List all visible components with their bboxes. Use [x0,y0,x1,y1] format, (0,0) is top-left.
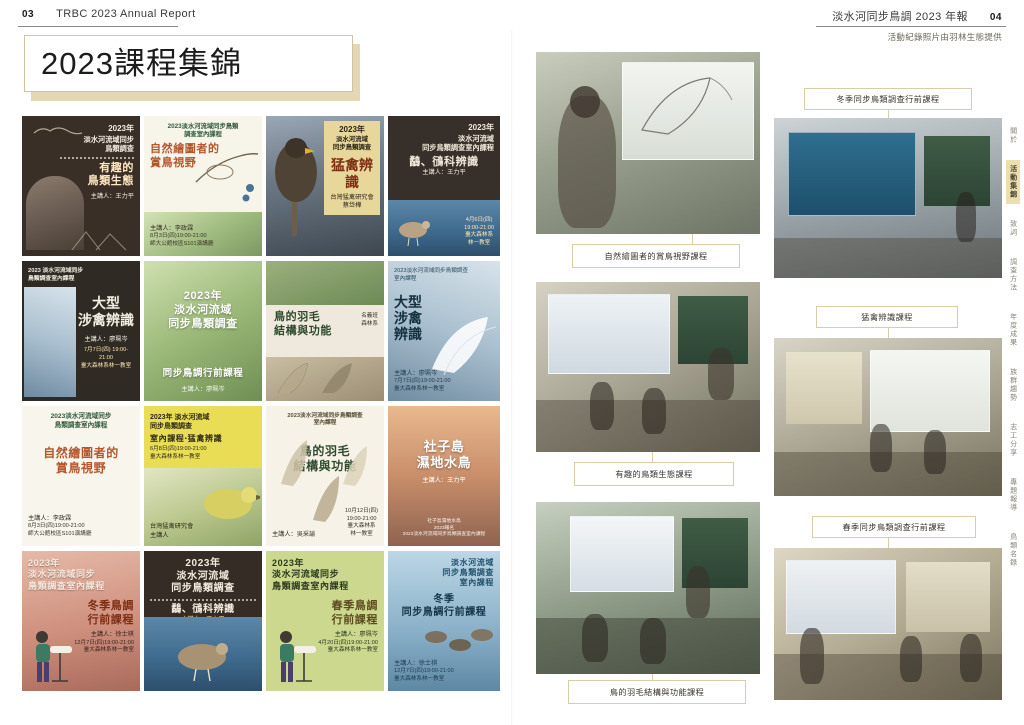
poster-year: 2023年 淡水河流域 [150,413,256,422]
poster-photo [266,261,384,305]
side-tab-activities[interactable]: 活動集錦 [1006,160,1019,204]
header-left-group: 03 TRBC 2023 Annual Report [22,8,196,20]
attendee-person [640,618,666,664]
poster-card[interactable]: 2023年 淡水河流域同步 鳥類調查室內課程 冬季鳥調 行前課程 主講人：徐士棋… [22,551,140,691]
yellow-bird-icon [194,476,260,532]
poster-meta: 7月7日(四) 19:00-21:00 臺大森林系林一教室 [77,347,135,370]
poster-speaker: 台灣猛禽研究會 主講人 [150,523,193,540]
poster-year: 2023年 [150,558,256,571]
poster-org: 2023淡水河流域同步鳥類 調查室內課程 [150,123,256,139]
attendee-person [582,614,608,662]
caption-illustration-lecture: 自然繪圖者的賞鳥視野課程 [572,244,740,268]
birdwatcher-icon [26,627,78,687]
poster-org: 淡水河流域 同步鳥類調查 [150,571,256,596]
poster-main-title: 鷸、鴴科辨識 [394,156,494,170]
poster-card[interactable]: 2023年 淡水河流域 同步鳥類調查 鷸、鴴科辨識 主講人：王力平 [144,551,262,691]
poster-org: 鳥類調查室內課程 [28,276,134,284]
header-rule-left [18,26,178,27]
side-tab-volunteers[interactable]: 志工分享 [1006,418,1019,462]
poster-org: 淡水河流域 同步鳥類調查室內課程 [394,134,494,153]
projection-screen [788,132,916,216]
caption-text: 有趣的鳥類生態課程 [615,468,692,480]
caption-spring-pretrip: 春季同步鳥類調查行前課程 [812,516,976,538]
poster-org: 淡水河流域 同步鳥類調查 [150,304,256,332]
poster-main-title: 冬季 同步鳥調行前課程 [394,594,494,619]
side-tab-species-list[interactable]: 鳥類名錄 [1006,528,1019,572]
poster-main-title: 自然繪圖者的 賞鳥視野 [28,446,134,476]
poster-meta: 12月7日(四)19:00-21:00 臺大森林系林一教室 [394,668,494,684]
attendee-person [924,430,946,474]
projection-screen [570,516,674,592]
speaker-head [570,86,600,118]
side-tab-features[interactable]: 專題報導 [1006,473,1019,517]
branch-nest-icon [194,142,260,204]
poster-main-title: 鳥的羽毛 結構與功能 [274,311,332,339]
poster-meta: 社子島濕地水鳥 2023報名 2023淡水河流域同步鳥類調查室內課程 [394,519,494,539]
photo-bird-ecology[interactable] [536,282,760,452]
title-card: 2023課程集錦 [24,35,353,92]
shorebird-icon [393,216,433,246]
poster-board [786,352,862,424]
poster-card[interactable]: 2023 淡水河流域同步 鳥類調查室內課程 大型 涉禽辨識 主講人：廖珮岑 7月… [22,261,140,401]
poster-year: 2023年 [150,290,256,304]
poster-org: 淡水河流域 同步鳥類調查 [327,136,377,153]
caption-leader [888,328,889,338]
projection-screen [548,294,670,374]
attendee-person [642,388,666,434]
poster-card[interactable]: 2023年 淡水河流域 同步鳥類調查 室內課程‧猛禽辨識 6月8日(四)19:0… [144,406,262,546]
whiteboard [906,562,990,632]
right-page: 自然繪圖者的賞鳥視野課程 冬季同步鳥類調查行前課程 猛禽辨識課程 有趣的鳥類生態… [512,30,1024,725]
poster-grid: 2023年 淡水河流域同步 鳥類調查 有趣的 鳥類生態 主講人：王力平 2023… [22,116,504,691]
page-title: 2023課程集錦 [25,48,242,79]
caption-text: 鳥的羽毛結構與功能課程 [610,686,704,698]
poster-main-title: 鷸、鴴科辨識 [150,604,256,617]
poster-card[interactable]: 2023年 淡水河流域同步 鳥類調查室內課程 春季鳥調 行前課程 主講人：廖珮岑… [266,551,384,691]
feather-icon [270,359,374,399]
side-tab-trends[interactable]: 族群趨勢 [1006,363,1019,407]
poster-photo [24,287,76,397]
poster-year: 2023年 [394,123,494,134]
poster-main-title: 社子島 濕地水鳥 [394,439,494,472]
poster-card[interactable]: 2023年 淡水河流域 同步鳥類調查室內課程 鷸、鴴科辨識 主講人：王力平 4月… [388,116,500,256]
side-tab-about[interactable]: 關於 [1006,122,1019,149]
side-tab-results[interactable]: 年度成果 [1006,308,1019,352]
poster-year: 2023 淡水河流域同步 [28,268,134,276]
whiteboard [924,136,990,206]
header-title-left: TRBC 2023 Annual Report [56,8,195,20]
poster-org: 淡水河流域同步 鳥類調查室內課程 [28,569,134,592]
poster-speaker: 台灣猛禽研究會 蔡岱樺 [327,194,377,211]
caption-text: 春季同步鳥類調查行前課程 [842,521,945,533]
folio-right: 04 [990,12,1002,23]
poster-main-title: 同步鳥調行前課程 [150,368,256,380]
poster-card[interactable]: 2023年 淡水河流域同步 鳥類調查 有趣的 鳥類生態 主講人：王力平 [22,116,140,256]
poster-speaker: 主講人：王力平 [394,477,494,485]
poster-main-title: 猛禽辨識 [327,157,377,191]
eagle-icon [268,132,326,252]
poster-main-title: 有趣的 鳥類生態 [60,162,134,190]
poster-year: 2023年 [28,558,134,569]
poster-speaker: 主講人：王力平 [394,169,494,177]
poster-card[interactable]: 2023淡水河流域同步鳥類調查 室內課程 鳥的羽毛 結構與功能 主講人：吳采諭 … [266,406,384,546]
poster-org: 淡水河流域同步 鳥類調查室內課程 [272,569,378,592]
poster-speaker: 主講人：廖珮岑 [77,336,135,344]
folio-left: 03 [22,9,34,20]
header-right-group: 淡水河同步鳥調 2023 年報 04 [832,8,1002,24]
bird-drawing-icon [632,68,748,150]
caption-text: 猛禽辨識課程 [861,311,913,323]
photo-spring-pretrip[interactable] [774,548,1002,700]
photo-winter-pretrip[interactable] [774,118,1002,278]
mountain-icon [70,226,132,252]
feather-collage-icon [269,424,379,536]
poster-card[interactable]: 2023淡水河流域同步鳥類調查 室內課程 大型 涉禽 辨識 主講人：廖珮岑 7月… [388,261,500,401]
projection-screen [870,350,990,432]
side-tab-rail: 關於 活動集錦 致詞 調查方法 年度成果 族群趨勢 志工分享 專題報導 鳥類名錄 [1002,122,1024,572]
photo-raptor-id[interactable] [774,338,1002,496]
poster-card[interactable]: 社子島 濕地水鳥 主講人：王力平 社子島濕地水鳥 2023報名 2023淡水河流… [388,406,500,546]
desk-row [774,238,1002,278]
speaker-person [800,628,824,684]
poster-card[interactable]: 2023年 淡水河流域 同步鳥類調查 同步鳥調行前課程 主講人：廖珮岑 [144,261,262,401]
bird-silhouette-icon [28,121,88,139]
poster-main-title: 春季鳥調 行前課程 [272,600,378,628]
speaker-person [708,348,734,400]
poster-main-title: 冬季鳥調 行前課程 [28,600,134,628]
attendee-person [870,424,892,472]
poster-meta: 8月3日(四)19:00-21:00 師大公館校區S101演講廳 [150,233,256,249]
attendee-person [590,382,614,430]
caption-raptor-id: 猛禽辨識課程 [816,306,958,328]
duck-flock-icon [422,619,496,663]
poster-card[interactable]: 鳥的羽毛 結構與功能 名義班 森林系 [266,261,384,401]
speaker-person [686,566,710,618]
poster-card[interactable]: 2023淡水河流域同步鳥類 調查室內課程 自然繪圖者的 賞鳥視野 主講人：李政霖… [144,116,262,256]
poster-main-title: 室內課程‧猛禽辨識 [150,434,256,444]
side-tab-methods[interactable]: 調查方法 [1006,253,1019,297]
caption-text: 冬季同步鳥類調查行前課程 [836,93,939,105]
poster-main-title: 大型 涉禽辨識 [77,295,135,329]
poster-speaker: 主講人：廖珮岑 [150,386,256,394]
poster-card[interactable]: 2023年 淡水河流域 同步鳥類調查 猛禽辨識 台灣猛禽研究會 蔡岱樺 [266,116,384,256]
poster-org: 2023淡水河流域同步 鳥類調查室內課程 [28,413,134,430]
poster-meta: 4月6日(四) 19:00-21:00 臺大森林系 林一教室 [464,217,494,248]
caption-leader [888,538,889,548]
caption-feather-structure: 鳥的羽毛結構與功能課程 [568,680,746,704]
poster-org: 淡水河流域 同步鳥類調查 室內課程 [394,558,494,588]
photo-feather-structure[interactable] [536,502,760,674]
caption-winter-pretrip: 冬季同步鳥類調查行前課程 [804,88,972,110]
header-rule-right [816,26,1006,27]
poster-meta: 8月3日(四)19:00-21:00 師大公館校區S101演講廳 [28,523,134,539]
poster-meta: 名義班 森林系 [361,313,378,329]
projection-screen [786,560,896,634]
poster-speaker: 主講人：王力平 [60,193,134,201]
caption-bird-ecology: 有趣的鳥類生態課程 [574,462,734,486]
poster-meta: 6月8日(四)19:00-21:00 臺大森林系林一教室 [150,446,256,462]
attendee-person [960,634,982,682]
poster-card[interactable]: 2023淡水河流域同步 鳥類調查室內課程 自然繪圖者的 賞鳥視野 主講人：李政霖… [22,406,140,546]
attendee-person [900,636,922,682]
caption-text: 自然繪圖者的賞鳥視野課程 [604,250,707,262]
sandpiper-icon [168,635,238,683]
side-tab-foreword[interactable]: 致詞 [1006,215,1019,242]
left-page: 2023課程集錦 2023年 淡水河流域同步 鳥類調查 有趣的 鳥類生態 主講人… [0,30,512,725]
photo-illustration-lecture[interactable] [536,52,760,234]
poster-org: 同步鳥類調查 [150,422,256,431]
birdwatcher-icon [270,627,322,687]
poster-year: 2023年 [272,558,378,569]
poster-card[interactable]: 淡水河流域 同步鳥類調查 室內課程 冬季 同步鳥調行前課程 主講人：徐士棋 12… [388,551,500,691]
page-header: 03 TRBC 2023 Annual Report 淡水河同步鳥調 2023 … [0,0,1024,30]
header-title-right: 淡水河同步鳥調 2023 年報 [832,8,968,24]
egret-icon [414,289,500,385]
attendee-person [956,192,976,242]
poster-year: 2023年 [327,125,377,136]
poster-year: 2023淡水河流域同步鳥類調查 室內課程 [394,268,494,284]
section-title-block: 2023課程集錦 [24,35,360,97]
